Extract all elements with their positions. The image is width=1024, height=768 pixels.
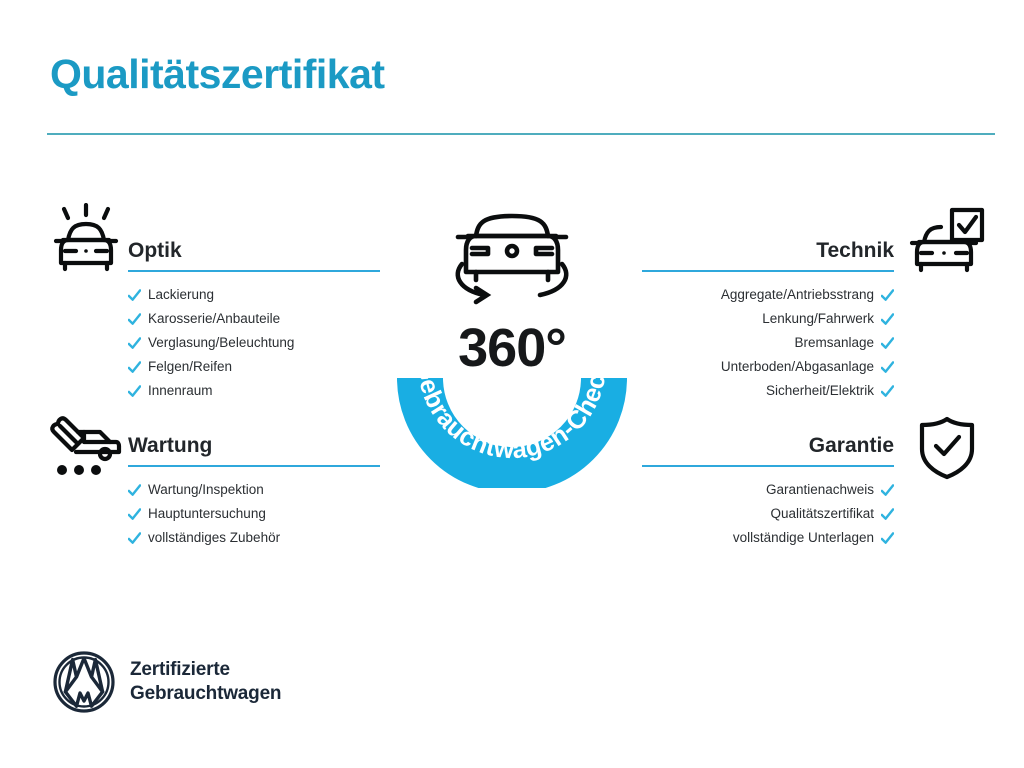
section-garantie: Garantie Garantienachweis Qualitätszerti…	[642, 433, 894, 550]
list-item: Karosserie/Anbauteile	[128, 307, 380, 331]
list-item-label: Qualitätszertifikat	[770, 502, 874, 526]
check-icon	[881, 532, 894, 545]
list-item: Sicherheit/Elektrik	[642, 379, 894, 403]
list-item-label: Sicherheit/Elektrik	[766, 379, 874, 403]
section-wartung-header: Wartung	[128, 433, 380, 467]
list-item-label: Innenraum	[148, 379, 213, 403]
list-item: Verglasung/Beleuchtung	[128, 331, 380, 355]
list-item: Garantienachweis	[642, 478, 894, 502]
vw-footer-line2: Gebrauchtwagen	[130, 682, 281, 706]
list-item-label: Lenkung/Fahrwerk	[762, 307, 874, 331]
list-item: Aggregate/Antriebsstrang	[642, 283, 894, 307]
check-icon	[881, 484, 894, 497]
shield-check-icon	[916, 415, 978, 481]
list-item-label: Hauptuntersuchung	[148, 502, 266, 526]
section-technik-header: Technik	[642, 238, 894, 272]
list-item-label: Wartung/Inspektion	[148, 478, 264, 502]
list-item-label: Verglasung/Beleuchtung	[148, 331, 294, 355]
list-item: Lackierung	[128, 283, 380, 307]
check-icon	[128, 289, 141, 302]
list-item: vollständiges Zubehör	[128, 526, 380, 550]
check-icon	[881, 289, 894, 302]
vw-footer-line1: Zertifizierte	[130, 658, 281, 682]
check-icon	[128, 337, 141, 350]
section-optik-list: Lackierung Karosserie/Anbauteile Verglas…	[128, 283, 380, 403]
check-icon	[128, 361, 141, 374]
title-divider	[47, 133, 995, 135]
list-item: Hauptuntersuchung	[128, 502, 380, 526]
section-technik-divider	[642, 270, 894, 272]
section-technik: Technik Aggregate/Antriebsstrang Lenkung…	[642, 238, 894, 403]
check-icon	[881, 508, 894, 521]
vw-footer-text: Zertifizierte Gebrauchtwagen	[130, 658, 281, 706]
section-technik-list: Aggregate/Antriebsstrang Lenkung/Fahrwer…	[642, 283, 894, 403]
section-wartung: Wartung Wartung/Inspektion Hauptuntersuc…	[128, 433, 380, 550]
volkswagen-logo	[52, 650, 116, 714]
check-icon	[881, 337, 894, 350]
list-item: Innenraum	[128, 379, 380, 403]
section-garantie-header: Garantie	[642, 433, 894, 467]
section-wartung-divider	[128, 465, 380, 467]
certificate-page: Qualitätszertifikat	[0, 0, 1024, 768]
list-item: vollständige Unterlagen	[642, 526, 894, 550]
list-item-label: Unterboden/Abgasanlage	[721, 355, 874, 379]
section-wartung-list: Wartung/Inspektion Hauptuntersuchung vol…	[128, 478, 380, 550]
section-garantie-list: Garantienachweis Qualitätszertifikat vol…	[642, 478, 894, 550]
vw-footer: Zertifizierte Gebrauchtwagen	[52, 650, 281, 714]
360-check-badge: Gebrauchtwagen-Check 360°	[378, 196, 646, 488]
list-item: Qualitätszertifikat	[642, 502, 894, 526]
list-item-label: Bremsanlage	[794, 331, 874, 355]
section-wartung-title: Wartung	[128, 433, 380, 459]
check-icon	[128, 532, 141, 545]
section-optik-divider	[128, 270, 380, 272]
section-optik: Optik Lackierung Karosserie/Anbauteile V…	[128, 238, 380, 403]
list-item-label: Aggregate/Antriebsstrang	[721, 283, 874, 307]
check-icon	[128, 313, 141, 326]
section-garantie-divider	[642, 465, 894, 467]
list-item-label: Karosserie/Anbauteile	[148, 307, 280, 331]
check-icon	[881, 385, 894, 398]
list-item-label: Lackierung	[148, 283, 214, 307]
section-garantie-title: Garantie	[642, 433, 894, 459]
car-front-checkbox-icon	[908, 206, 986, 276]
list-item: Unterboden/Abgasanlage	[642, 355, 894, 379]
car-oil-service-icon	[48, 412, 124, 480]
check-icon	[881, 313, 894, 326]
car-front-shine-icon	[48, 203, 124, 275]
section-technik-title: Technik	[642, 238, 894, 264]
section-optik-header: Optik	[128, 238, 380, 272]
list-item-label: vollständiges Zubehör	[148, 526, 280, 550]
list-item: Bremsanlage	[642, 331, 894, 355]
list-item: Felgen/Reifen	[128, 355, 380, 379]
list-item-label: Garantienachweis	[766, 478, 874, 502]
check-icon	[128, 484, 141, 497]
list-item: Wartung/Inspektion	[128, 478, 380, 502]
check-icon	[128, 508, 141, 521]
list-item: Lenkung/Fahrwerk	[642, 307, 894, 331]
section-optik-title: Optik	[128, 238, 380, 264]
car-front-rotate-icon	[458, 216, 566, 302]
check-icon	[128, 385, 141, 398]
list-item-label: Felgen/Reifen	[148, 355, 232, 379]
list-item-label: vollständige Unterlagen	[733, 526, 874, 550]
page-title: Qualitätszertifikat	[50, 52, 385, 97]
badge-degrees-label: 360°	[378, 308, 646, 388]
check-icon	[881, 361, 894, 374]
